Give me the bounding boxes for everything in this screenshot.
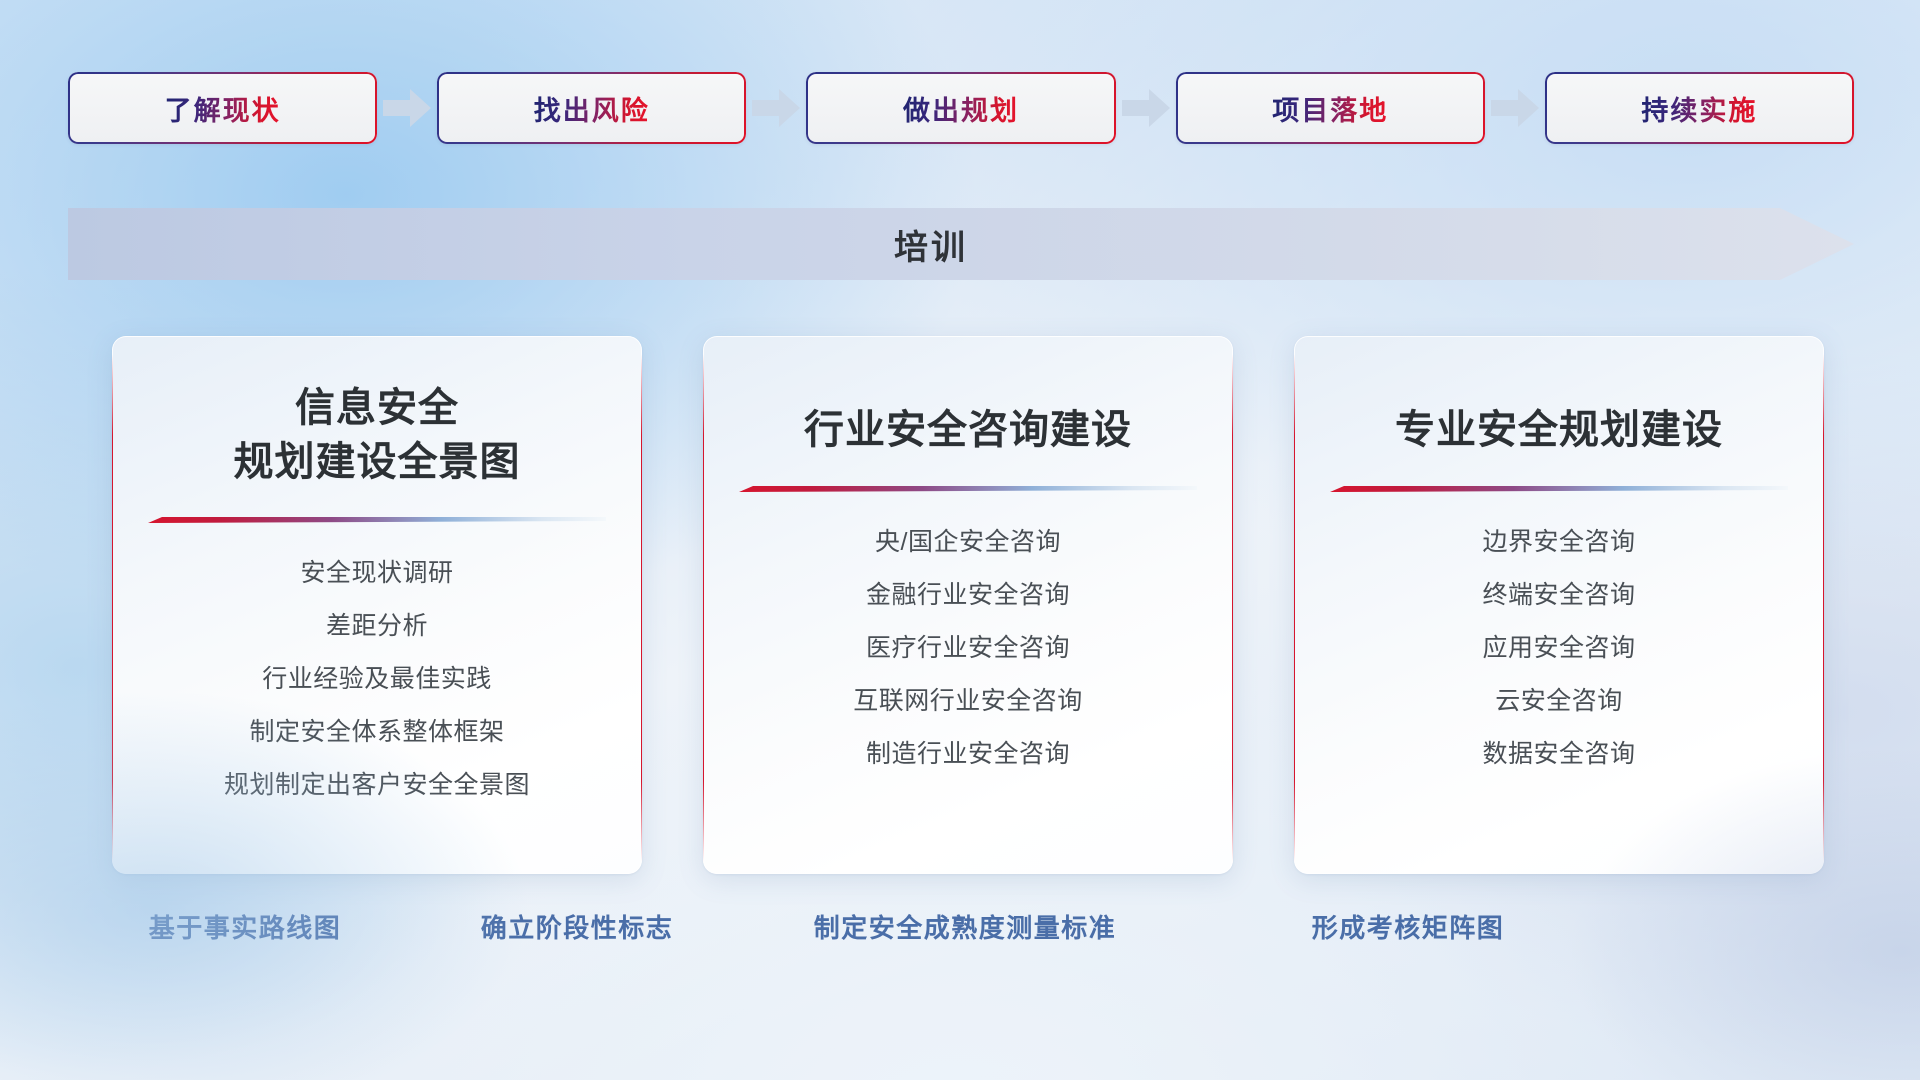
- list-item: 互联网行业安全咨询: [729, 675, 1207, 728]
- footnote-label: 制定安全成熟度测量标准: [814, 908, 1117, 945]
- card-accent-left: [703, 354, 704, 862]
- list-item: 差距分析: [138, 600, 616, 653]
- list-item: 制定安全体系整体框架: [138, 706, 616, 759]
- process-step-row: 了解现状 找出风险 做出规划 项目落地: [68, 72, 1854, 144]
- card-divider: [739, 484, 1197, 494]
- card-item-list: 央/国企安全咨询 金融行业安全咨询 医疗行业安全咨询 互联网行业安全咨询 制造行…: [703, 516, 1233, 781]
- card-divider: [148, 515, 606, 525]
- list-item: 安全现状调研: [138, 547, 616, 600]
- list-item: 数据安全咨询: [1320, 728, 1798, 781]
- list-item: 行业经验及最佳实践: [138, 653, 616, 706]
- list-item: 规划制定出客户安全全景图: [138, 759, 616, 812]
- footnote-label: 形成考核矩阵图: [1312, 908, 1505, 945]
- footnote-row: 基于事实路线图 确立阶段性标志 制定安全成熟度测量标准 形成考核矩阵图: [0, 908, 1920, 956]
- card-accent-right: [1232, 354, 1233, 862]
- arrow-right-icon: [377, 86, 437, 130]
- process-step-1[interactable]: 了解现状: [68, 72, 377, 144]
- card-industry-security-consulting[interactable]: 行业安全咨询建设: [703, 336, 1233, 874]
- footnote-label: 确立阶段性标志: [481, 908, 674, 945]
- process-step-label: 了解现状: [165, 89, 281, 128]
- card-accent-left: [1294, 354, 1295, 862]
- card-professional-security-planning[interactable]: 专业安全规划建设: [1294, 336, 1824, 874]
- process-step-label: 做出规划: [903, 89, 1019, 128]
- card-title: 信息安全 规划建设全景图: [146, 336, 608, 489]
- process-step-4[interactable]: 项目落地: [1176, 72, 1485, 144]
- card-row: 信息安全 规划建设全景图: [112, 336, 1824, 874]
- process-step-3[interactable]: 做出规划: [806, 72, 1115, 144]
- process-step-label: 找出风险: [534, 89, 650, 128]
- list-item: 制造行业安全咨询: [729, 728, 1207, 781]
- card-information-security-panorama[interactable]: 信息安全 规划建设全景图: [112, 336, 642, 874]
- banner-title: 培训: [68, 208, 1854, 280]
- list-item: 边界安全咨询: [1320, 516, 1798, 569]
- list-item: 金融行业安全咨询: [729, 569, 1207, 622]
- card-accent-right: [1823, 354, 1824, 862]
- list-item: 医疗行业安全咨询: [729, 622, 1207, 675]
- list-item: 应用安全咨询: [1320, 622, 1798, 675]
- card-item-list: 边界安全咨询 终端安全咨询 应用安全咨询 云安全咨询 数据安全咨询: [1294, 516, 1824, 781]
- slide-canvas: 了解现状 找出风险 做出规划 项目落地: [0, 0, 1920, 1080]
- process-step-5[interactable]: 持续实施: [1545, 72, 1854, 144]
- footnote-label: 基于事实路线图: [149, 908, 342, 945]
- card-divider: [1330, 484, 1788, 494]
- card-accent-left: [112, 354, 113, 862]
- list-item: 终端安全咨询: [1320, 569, 1798, 622]
- card-title: 专业安全规划建设: [1328, 336, 1790, 458]
- training-banner: 培训: [68, 208, 1854, 280]
- card-item-list: 安全现状调研 差距分析 行业经验及最佳实践 制定安全体系整体框架 规划制定出客户…: [112, 547, 642, 812]
- process-step-label: 项目落地: [1272, 89, 1388, 128]
- process-step-label: 持续实施: [1641, 89, 1757, 128]
- arrow-right-icon: [1485, 86, 1545, 130]
- arrow-right-icon: [746, 86, 806, 130]
- card-accent-right: [641, 354, 642, 862]
- list-item: 云安全咨询: [1320, 675, 1798, 728]
- card-title: 行业安全咨询建设: [737, 336, 1199, 458]
- arrow-right-icon: [1116, 86, 1176, 130]
- process-step-2[interactable]: 找出风险: [437, 72, 746, 144]
- list-item: 央/国企安全咨询: [729, 516, 1207, 569]
